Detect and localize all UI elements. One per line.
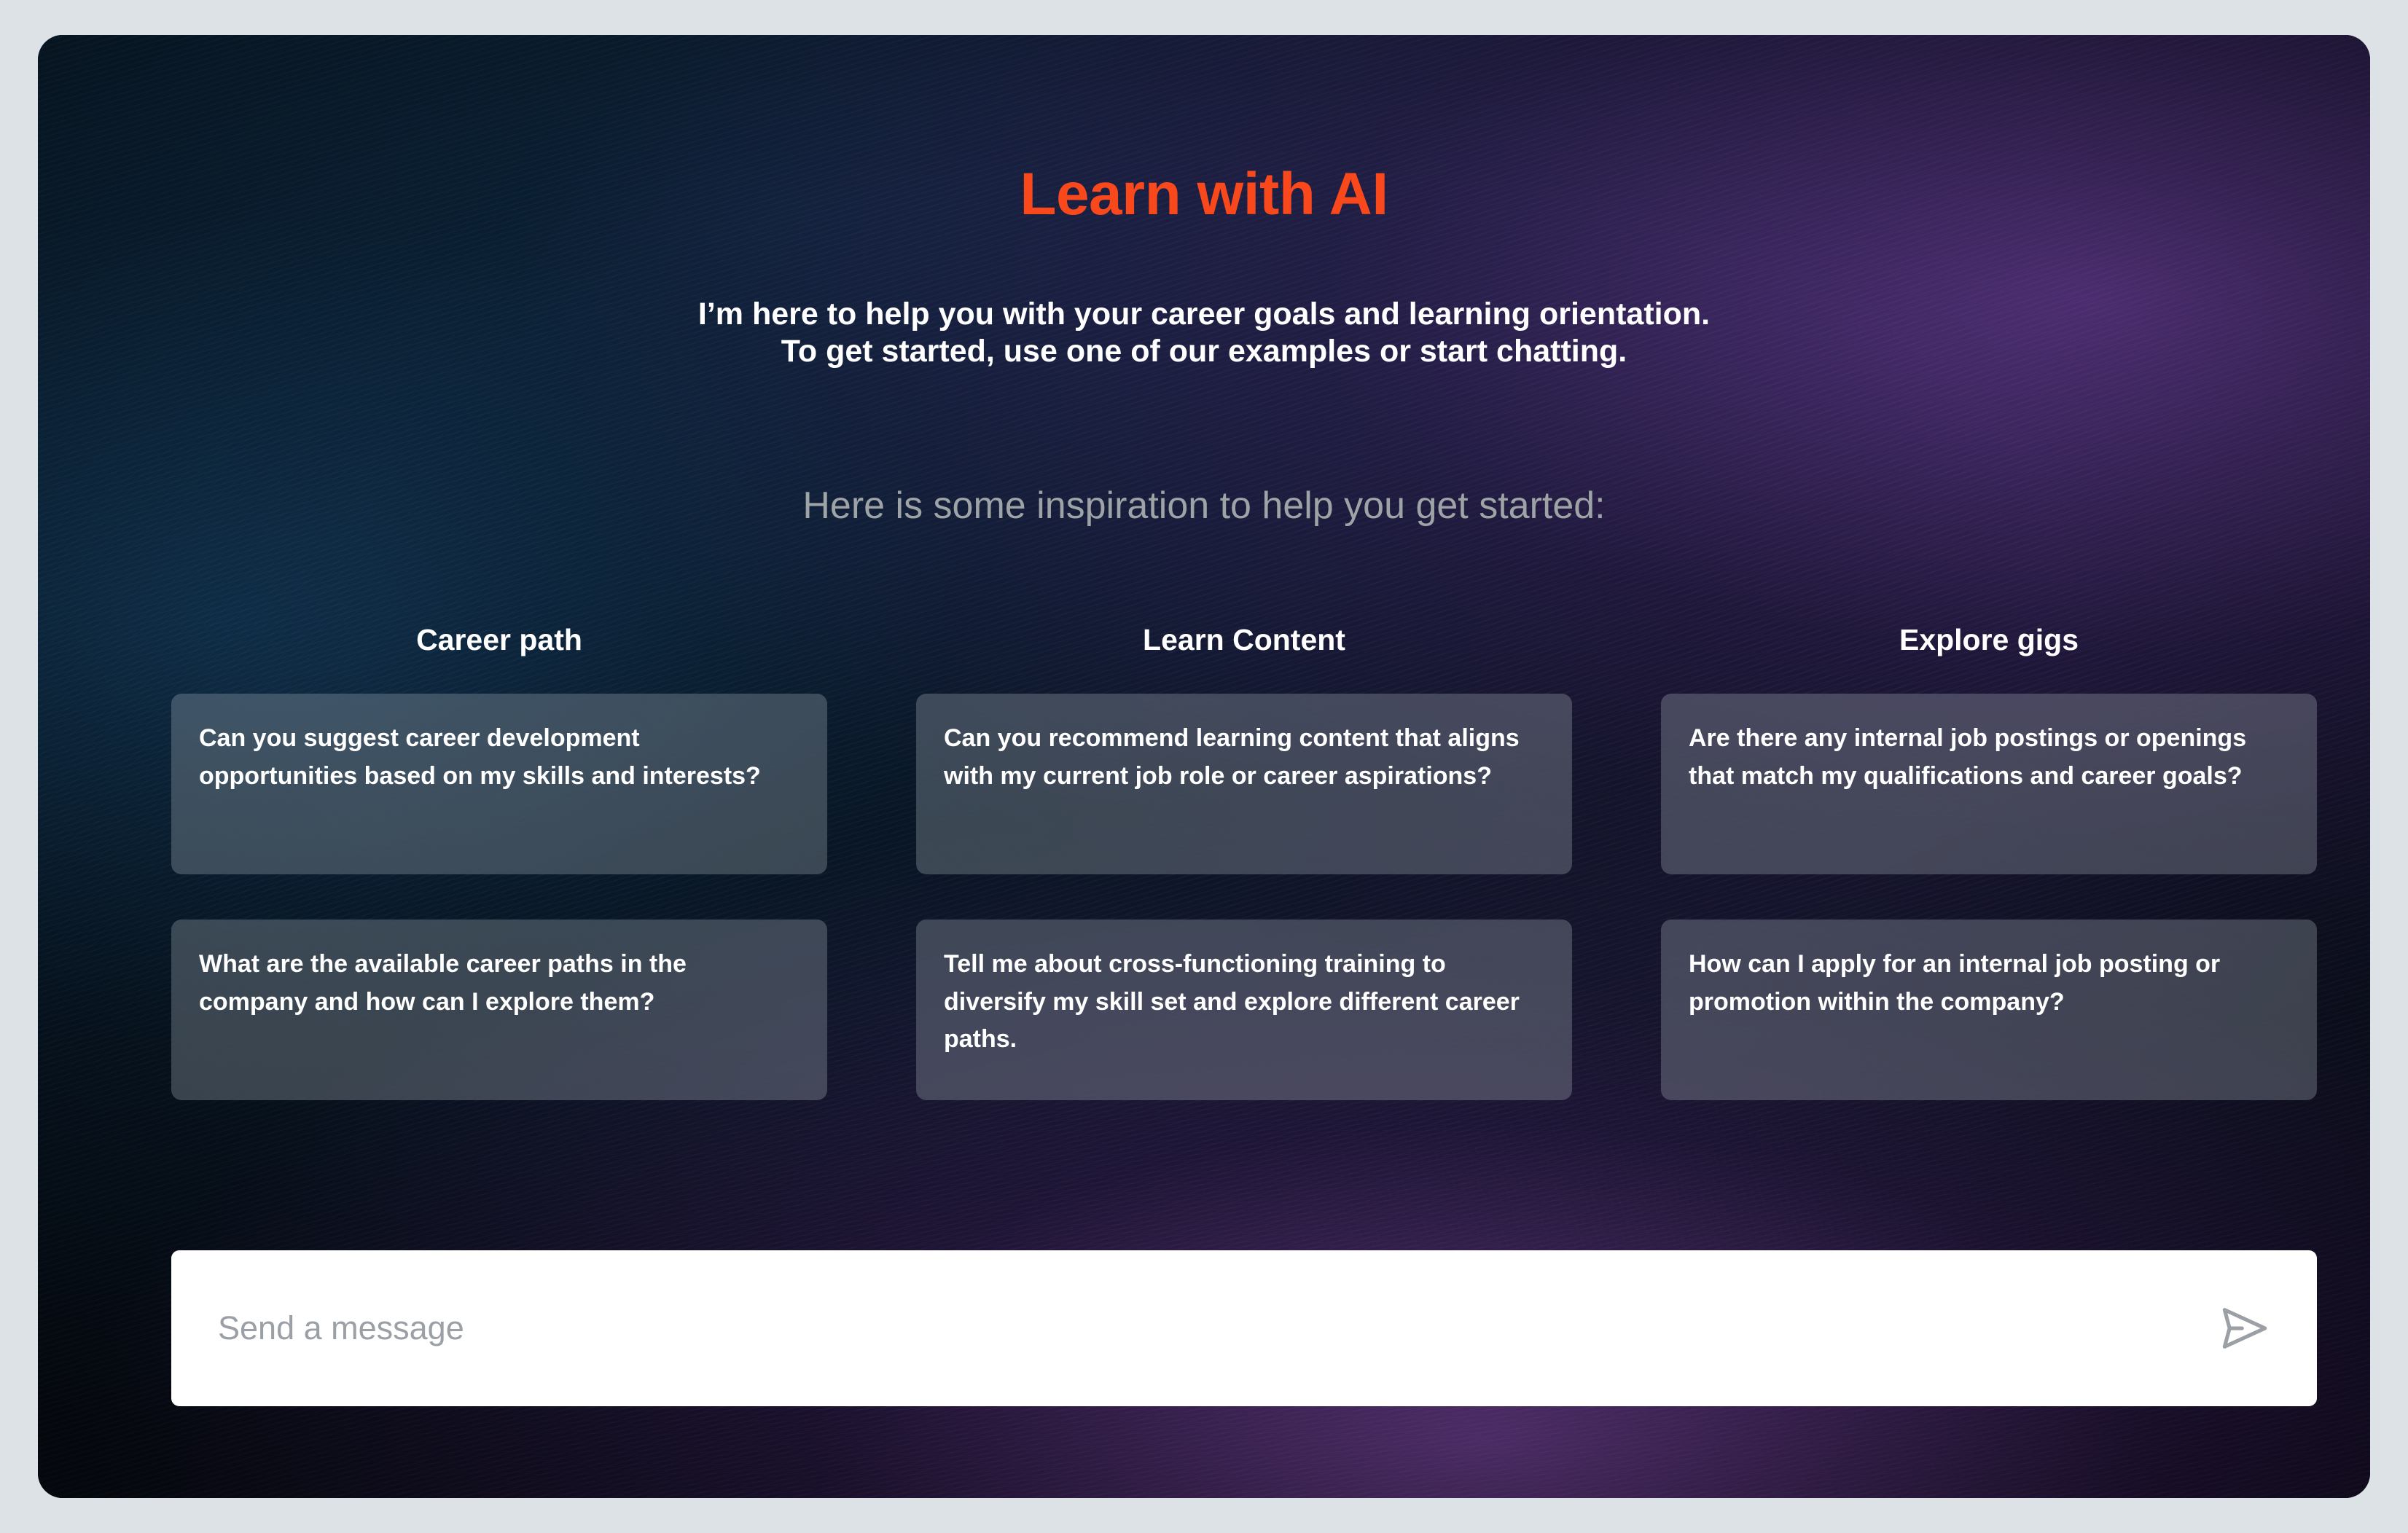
- suggestion-columns: Career path Can you suggest career devel…: [171, 625, 2317, 1100]
- inspiration-label: Here is some inspiration to help you get…: [38, 487, 2370, 525]
- suggestion-card[interactable]: Tell me about cross-functioning training…: [916, 920, 1572, 1100]
- page-title: Learn with AI: [38, 165, 2370, 224]
- send-button[interactable]: [2209, 1293, 2279, 1363]
- column-title-career-path: Career path: [171, 625, 827, 655]
- suggestion-card[interactable]: What are the available career paths in t…: [171, 920, 827, 1100]
- page-subtitle-line-1: I’m here to help you with your career go…: [38, 296, 2370, 333]
- send-paper-plane-icon: [2214, 1298, 2274, 1358]
- suggestion-card[interactable]: Can you suggest career development oppor…: [171, 694, 827, 874]
- column-title-learn-content: Learn Content: [916, 625, 1572, 655]
- message-composer[interactable]: [171, 1250, 2317, 1406]
- suggestion-card[interactable]: Can you recommend learning content that …: [916, 694, 1572, 874]
- suggestion-column-career-path: Career path Can you suggest career devel…: [171, 625, 827, 1100]
- message-input[interactable]: [218, 1250, 2209, 1406]
- page-subtitle-line-2: To get started, use one of our examples …: [38, 333, 2370, 370]
- app-window: Learn with AI I’m here to help you with …: [38, 35, 2370, 1498]
- page-subtitle: I’m here to help you with your career go…: [38, 296, 2370, 369]
- suggestion-card[interactable]: Are there any internal job postings or o…: [1661, 694, 2317, 874]
- chat-welcome-screen: Learn with AI I’m here to help you with …: [38, 35, 2370, 1498]
- column-title-explore-gigs: Explore gigs: [1661, 625, 2317, 655]
- suggestion-column-explore-gigs: Explore gigs Are there any internal job …: [1661, 625, 2317, 1100]
- suggestion-card[interactable]: How can I apply for an internal job post…: [1661, 920, 2317, 1100]
- suggestion-column-learn-content: Learn Content Can you recommend learning…: [916, 625, 1572, 1100]
